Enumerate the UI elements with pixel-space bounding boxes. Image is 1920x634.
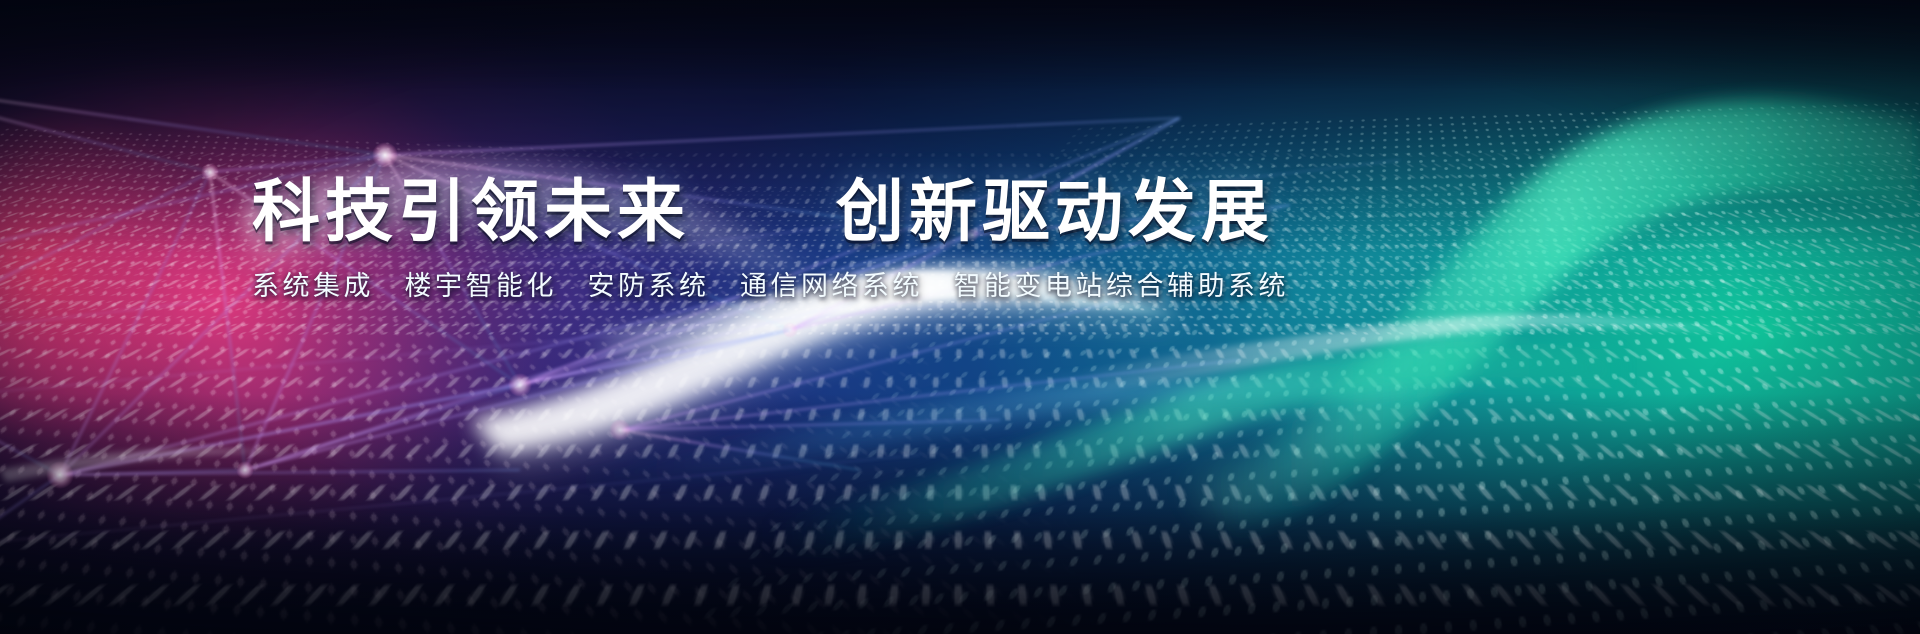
tech-banner: 科技引领未来 创新驱动发展 系统集成 楼宇智能化 安防系统 通信网络系统 智能变… [0,0,1920,634]
banner-subline: 系统集成 楼宇智能化 安防系统 通信网络系统 智能变电站综合辅助系统 [252,246,1652,304]
banner-headline: 科技引领未来 创新驱动发展 [252,178,1652,246]
banner-text-block: 科技引领未来 创新驱动发展 系统集成 楼宇智能化 安防系统 通信网络系统 智能变… [252,178,1652,304]
vignette-overlay [0,0,1920,634]
